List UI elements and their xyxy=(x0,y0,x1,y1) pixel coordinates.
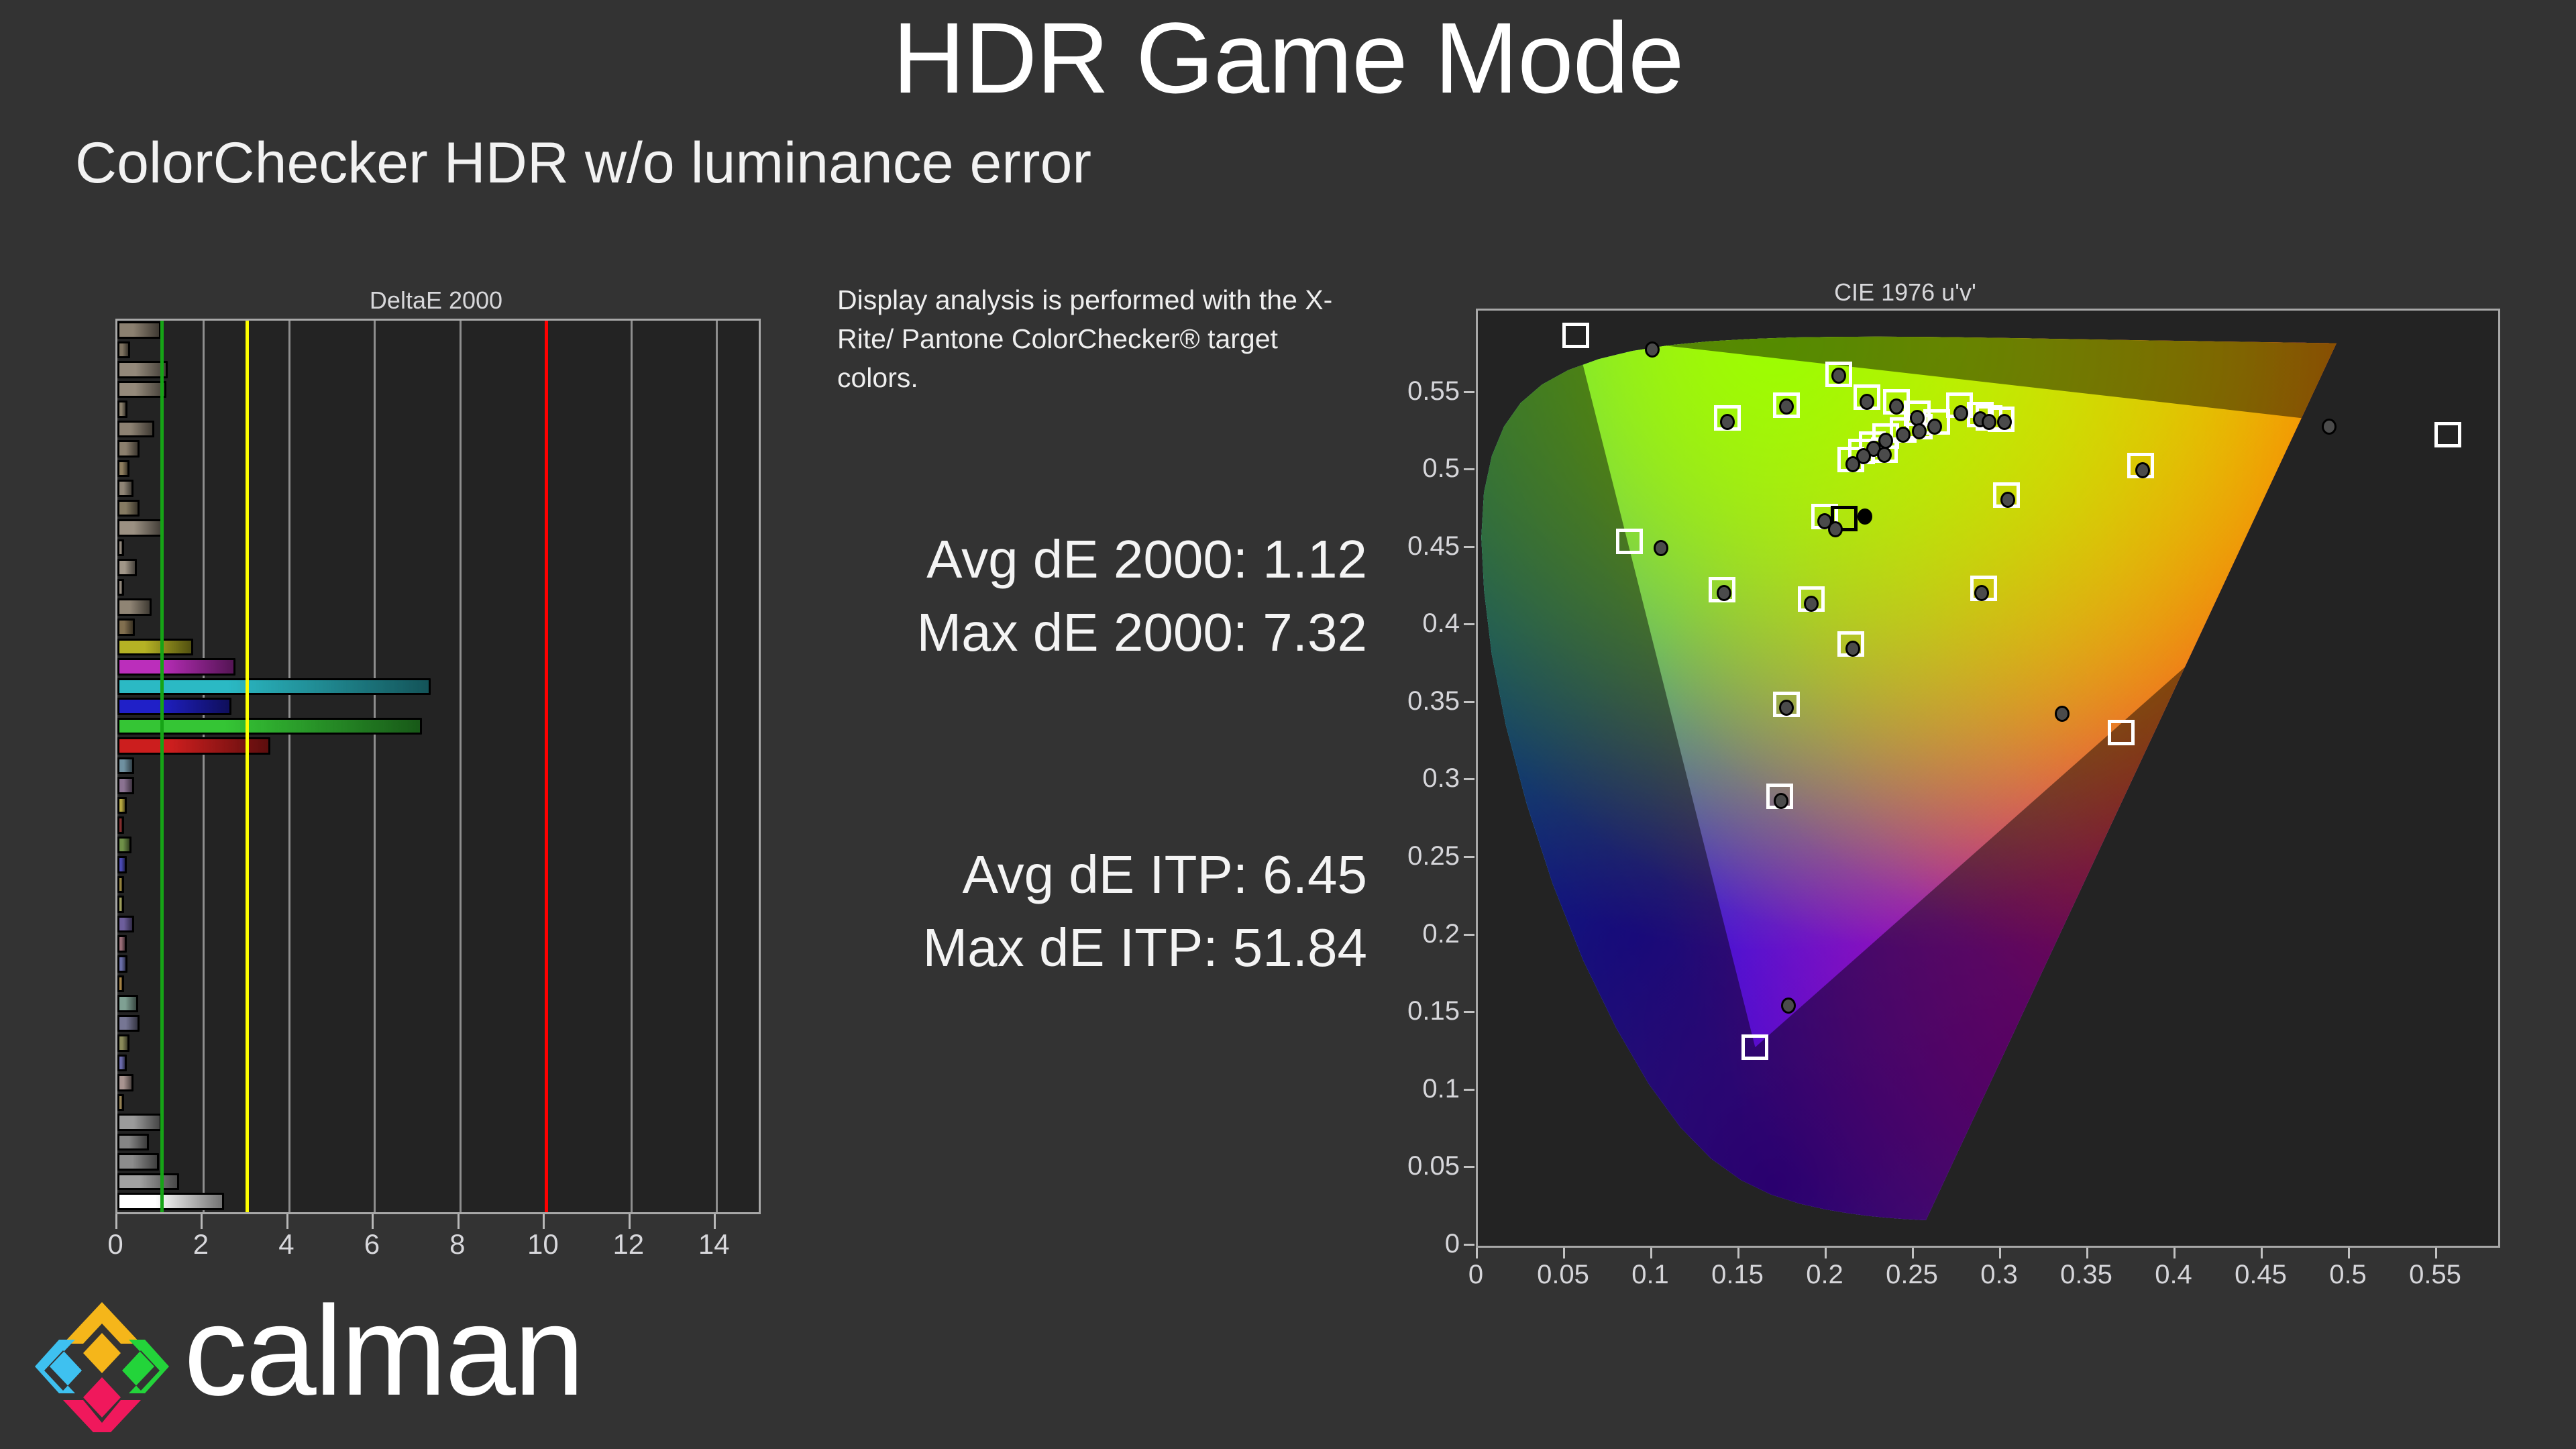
deltae-chart-title: DeltaE 2000 xyxy=(80,288,792,313)
cie-chart-panel: CIE 1976 u'v' 00.050.10.150.20.250.30.35… xyxy=(1389,280,2502,1293)
deltae-plot-area xyxy=(115,319,761,1214)
deltae-x-tick xyxy=(286,1214,288,1229)
cie-measured-point xyxy=(1828,521,1843,537)
deltae-bar xyxy=(117,935,127,953)
deltae-bar-row xyxy=(117,657,759,678)
deltae-bar-row xyxy=(117,1073,759,1093)
cie-y-tick-label: 0.45 xyxy=(1407,533,1460,559)
deltae-bar-row xyxy=(117,697,759,717)
cie-gamut-svg xyxy=(1478,311,2498,1246)
cie-x-tick-label: 0.2 xyxy=(1806,1261,1843,1288)
deltae-bar-row xyxy=(117,757,759,777)
cie-y-tick xyxy=(1464,1166,1474,1168)
cie-x-tick-label: 0.1 xyxy=(1631,1261,1669,1288)
cie-y-tick xyxy=(1464,778,1474,780)
calman-logo: calman xyxy=(35,1298,679,1432)
cie-measured-point xyxy=(1774,793,1788,809)
cie-target-box xyxy=(1562,323,1589,348)
cie-measured-point xyxy=(1804,596,1819,612)
deltae-bar-row xyxy=(117,558,759,578)
avg-deitp-value: Avg dE ITP: 6.45 xyxy=(837,839,1367,912)
deltae-bar xyxy=(117,995,138,1012)
deltae-bar xyxy=(117,816,124,834)
deltae-bar-row xyxy=(117,539,759,559)
cie-x-tick xyxy=(1737,1248,1739,1258)
cie-x-tick-label: 0 xyxy=(1468,1261,1483,1288)
deltae-x-tick xyxy=(201,1214,203,1229)
calman-diamond-icon xyxy=(35,1298,169,1432)
cie-measured-point xyxy=(1912,423,1927,439)
deltae-x-tick xyxy=(372,1214,374,1229)
cie-measured-point xyxy=(1845,456,1860,472)
de2000-metrics: Avg dE 2000: 1.12 Max dE 2000: 7.32 xyxy=(837,523,1367,669)
deltae-bar-row xyxy=(117,737,759,757)
deltae-bar-row xyxy=(117,776,759,796)
deltae-bar-row xyxy=(117,479,759,499)
cie-measured-point xyxy=(2322,419,2337,435)
deltae-x-tick-label: 2 xyxy=(193,1230,209,1258)
cie-x-tick xyxy=(1650,1248,1652,1258)
deltae-bar-row xyxy=(117,420,759,440)
cie-y-tick xyxy=(1464,934,1474,936)
deltae-bar xyxy=(117,1094,124,1112)
cie-measured-point xyxy=(1845,641,1860,657)
deltae-bar xyxy=(117,321,161,339)
deltae-bar-row xyxy=(117,934,759,955)
cie-y-tick xyxy=(1464,391,1474,393)
deltae-bar-row xyxy=(117,499,759,519)
deltae-bar-row xyxy=(117,717,759,737)
cie-measured-point xyxy=(1654,540,1668,556)
cie-plot-area xyxy=(1476,309,2500,1248)
deltae-bar xyxy=(117,896,124,913)
deltae-bar-row xyxy=(117,1093,759,1114)
deltae-bar-row xyxy=(117,1152,759,1173)
cie-y-tick-label: 0.55 xyxy=(1407,378,1460,405)
deltae-x-tick xyxy=(458,1214,460,1229)
slide-root: HDR Game Mode ColorChecker HDR w/o lumin… xyxy=(0,0,2576,1449)
cie-x-tick xyxy=(1825,1248,1827,1258)
deltae-bar-row xyxy=(117,341,759,361)
deltae-bar-row xyxy=(117,1113,759,1133)
deltae-x-axis: 02468101214 xyxy=(115,1214,761,1275)
deltae-bar xyxy=(117,777,134,794)
deltae-bar xyxy=(117,876,124,894)
logo-chevron-bottom xyxy=(63,1377,141,1432)
cie-y-tick xyxy=(1464,546,1474,548)
deltae-bar xyxy=(117,539,124,557)
deltae-bar-row xyxy=(117,460,759,480)
cie-gamut-canvas xyxy=(1478,311,2498,1246)
cie-x-tick xyxy=(1563,1248,1565,1258)
deltae-bar xyxy=(117,1015,140,1032)
cie-x-tick-label: 0.55 xyxy=(2409,1261,2461,1288)
deltae-bar-row xyxy=(117,678,759,698)
cie-y-tick-label: 0.2 xyxy=(1422,920,1460,947)
cie-measured-point xyxy=(2135,462,2150,478)
max-deitp-value: Max dE ITP: 51.84 xyxy=(837,912,1367,985)
deltae-bar-row xyxy=(117,321,759,341)
deltae-bar-row xyxy=(117,895,759,915)
deltae-bar-row xyxy=(117,994,759,1014)
deltae-bar-row xyxy=(117,1192,759,1212)
deltae-bar xyxy=(117,1173,179,1191)
deltae-bar xyxy=(117,460,129,478)
cie-x-tick xyxy=(1999,1248,2001,1258)
deltae-bar-row xyxy=(117,836,759,856)
deltae-bar-row xyxy=(117,360,759,380)
cie-y-tick-label: 0.3 xyxy=(1422,765,1460,792)
deltae-bar-row xyxy=(117,1133,759,1153)
deltae-bar xyxy=(117,480,133,497)
analysis-note: Display analysis is performed with the X… xyxy=(837,280,1360,398)
deltae-bar xyxy=(117,678,431,696)
cie-y-tick xyxy=(1464,1089,1474,1091)
cie-x-tick-label: 0.3 xyxy=(1980,1261,2018,1288)
deltae-bar-row xyxy=(117,638,759,658)
cie-target-box xyxy=(2434,422,2461,447)
cie-x-tick xyxy=(2435,1248,2437,1258)
cie-y-tick-label: 0.1 xyxy=(1422,1075,1460,1102)
deltae-x-tick-label: 10 xyxy=(527,1230,559,1258)
deltae-bar-row xyxy=(117,955,759,975)
deltae-bar xyxy=(117,1114,162,1131)
cie-x-tick-label: 0.45 xyxy=(2235,1261,2287,1288)
cie-y-tick xyxy=(1464,701,1474,703)
deltae-bar xyxy=(117,341,130,359)
deltae-bar-row xyxy=(117,380,759,400)
cie-y-tick xyxy=(1464,468,1474,470)
deltae-bar xyxy=(117,500,140,517)
cie-x-tick xyxy=(2086,1248,2088,1258)
deltae-bar-row xyxy=(117,1034,759,1054)
deltae-bar xyxy=(117,619,135,636)
cie-x-tick-label: 0.35 xyxy=(2060,1261,2112,1288)
deltae-x-tick xyxy=(115,1214,117,1229)
deltae-bar xyxy=(117,381,166,398)
deltae-bar-row xyxy=(117,400,759,420)
cie-x-tick-label: 0.05 xyxy=(1537,1261,1589,1288)
logo-chevron-right xyxy=(122,1340,169,1393)
deltae-bar xyxy=(117,797,127,814)
cie-y-tick-label: 0 xyxy=(1445,1230,1460,1257)
deltae-bar-row xyxy=(117,598,759,618)
logo-chevron-top xyxy=(63,1302,141,1373)
cie-x-axis: 00.050.10.150.20.250.30.350.40.450.50.55 xyxy=(1476,1248,2500,1301)
deltae-bar-row xyxy=(117,975,759,995)
deltae-bar xyxy=(117,856,127,873)
cie-measured-point xyxy=(1953,405,1968,421)
deltae-x-tick-label: 14 xyxy=(698,1230,730,1258)
deltae-bar xyxy=(117,658,235,676)
deltae-threshold-warn xyxy=(246,321,249,1212)
cie-x-tick-label: 0.4 xyxy=(2155,1261,2192,1288)
deltae-bar xyxy=(117,757,134,775)
cie-y-tick xyxy=(1464,623,1474,625)
deltae-bar xyxy=(117,579,124,596)
cie-measured-point xyxy=(1877,447,1892,463)
deltae-bar xyxy=(117,639,193,656)
cie-x-tick xyxy=(2173,1248,2176,1258)
deltae-bar-row xyxy=(117,816,759,836)
cie-chart-title: CIE 1976 u'v' xyxy=(1389,280,2422,305)
cie-measured-point xyxy=(1974,585,1989,601)
avg-de2000-value: Avg dE 2000: 1.12 xyxy=(837,523,1367,596)
cie-x-tick xyxy=(2348,1248,2350,1258)
cie-x-tick xyxy=(2261,1248,2263,1258)
deltae-bar-row xyxy=(117,855,759,875)
cie-measured-point xyxy=(1717,585,1731,601)
deltae-bar-row xyxy=(117,1054,759,1074)
cie-y-axis: 00.050.10.150.20.250.30.350.40.450.50.55 xyxy=(1389,309,1474,1248)
deltae-bar xyxy=(117,955,127,973)
cie-measured-point xyxy=(1860,394,1874,410)
deltae-chart-panel: DeltaE 2000 02468101214 xyxy=(80,288,792,1295)
deltae-bar xyxy=(117,837,131,854)
cie-y-tick-label: 0.05 xyxy=(1407,1152,1460,1179)
deltae-bar-row xyxy=(117,618,759,638)
page-subtitle: ColorChecker HDR w/o luminance error xyxy=(75,134,1091,192)
deltae-bar-rows xyxy=(117,321,759,1212)
deltae-bar xyxy=(117,975,124,993)
deltae-bar xyxy=(117,1055,127,1072)
page-title: HDR Game Mode xyxy=(0,5,2576,111)
cie-y-tick-label: 0.35 xyxy=(1407,688,1460,714)
deltae-bar xyxy=(117,698,231,715)
deltae-threshold-fail xyxy=(545,321,548,1212)
cie-x-tick xyxy=(1912,1248,1914,1258)
cie-measured-point xyxy=(2055,706,2070,722)
cie-x-tick xyxy=(1476,1248,1478,1258)
calman-wordmark: calman xyxy=(184,1287,583,1415)
cie-x-tick-label: 0.5 xyxy=(2329,1261,2367,1288)
deltae-bar xyxy=(117,916,134,933)
logo-chevron-left xyxy=(35,1340,82,1393)
deltae-bar xyxy=(117,400,127,418)
deltae-bar-row xyxy=(117,915,759,935)
deltae-x-tick-label: 8 xyxy=(449,1230,465,1258)
cie-y-tick-label: 0.15 xyxy=(1407,998,1460,1024)
cie-y-tick xyxy=(1464,856,1474,858)
cie-target-box xyxy=(2108,720,2135,745)
max-de2000-value: Max dE 2000: 7.32 xyxy=(837,596,1367,669)
cie-y-tick-label: 0.4 xyxy=(1422,610,1460,637)
cie-y-tick-label: 0.25 xyxy=(1407,843,1460,869)
deltae-bar-row xyxy=(117,519,759,539)
deltae-bar xyxy=(117,559,137,576)
deltae-bar xyxy=(117,1034,129,1052)
deltae-bar-row xyxy=(117,1173,759,1193)
deltae-bar xyxy=(117,1074,133,1091)
cie-measured-point xyxy=(1781,998,1796,1014)
deltae-bar-row xyxy=(117,875,759,896)
deltae-x-tick-label: 4 xyxy=(278,1230,294,1258)
deltae-x-tick-label: 12 xyxy=(612,1230,644,1258)
cie-y-tick xyxy=(1464,1244,1474,1246)
cie-target-box xyxy=(1741,1034,1768,1060)
deltae-x-tick xyxy=(629,1214,631,1229)
deltae-bar-row xyxy=(117,1014,759,1034)
deltae-bar xyxy=(117,598,152,616)
deltae-bar-row xyxy=(117,578,759,598)
cie-y-tick xyxy=(1464,1011,1474,1013)
deltae-bar xyxy=(117,1193,224,1210)
deltae-bar xyxy=(117,440,140,458)
deltae-bar xyxy=(117,1134,149,1151)
deltae-x-tick-label: 0 xyxy=(107,1230,123,1258)
cie-measured-point xyxy=(1645,341,1660,358)
deltae-x-tick-label: 6 xyxy=(364,1230,380,1258)
deltae-x-tick xyxy=(543,1214,545,1229)
deltae-bar xyxy=(117,1153,159,1171)
deltae-threshold-good xyxy=(160,321,164,1212)
cie-target-box xyxy=(1616,529,1643,554)
deltae-bar-row xyxy=(117,439,759,460)
deltae-bar-row xyxy=(117,796,759,816)
deltae-bar xyxy=(117,421,154,438)
deltae-x-tick xyxy=(714,1214,716,1229)
cie-measured-point xyxy=(1779,700,1794,716)
cie-x-tick-label: 0.25 xyxy=(1886,1261,1938,1288)
deltae-bar xyxy=(117,519,162,537)
deitp-metrics: Avg dE ITP: 6.45 Max dE ITP: 51.84 xyxy=(837,839,1367,985)
cie-x-tick-label: 0.15 xyxy=(1711,1261,1764,1288)
cie-y-tick-label: 0.5 xyxy=(1422,455,1460,482)
